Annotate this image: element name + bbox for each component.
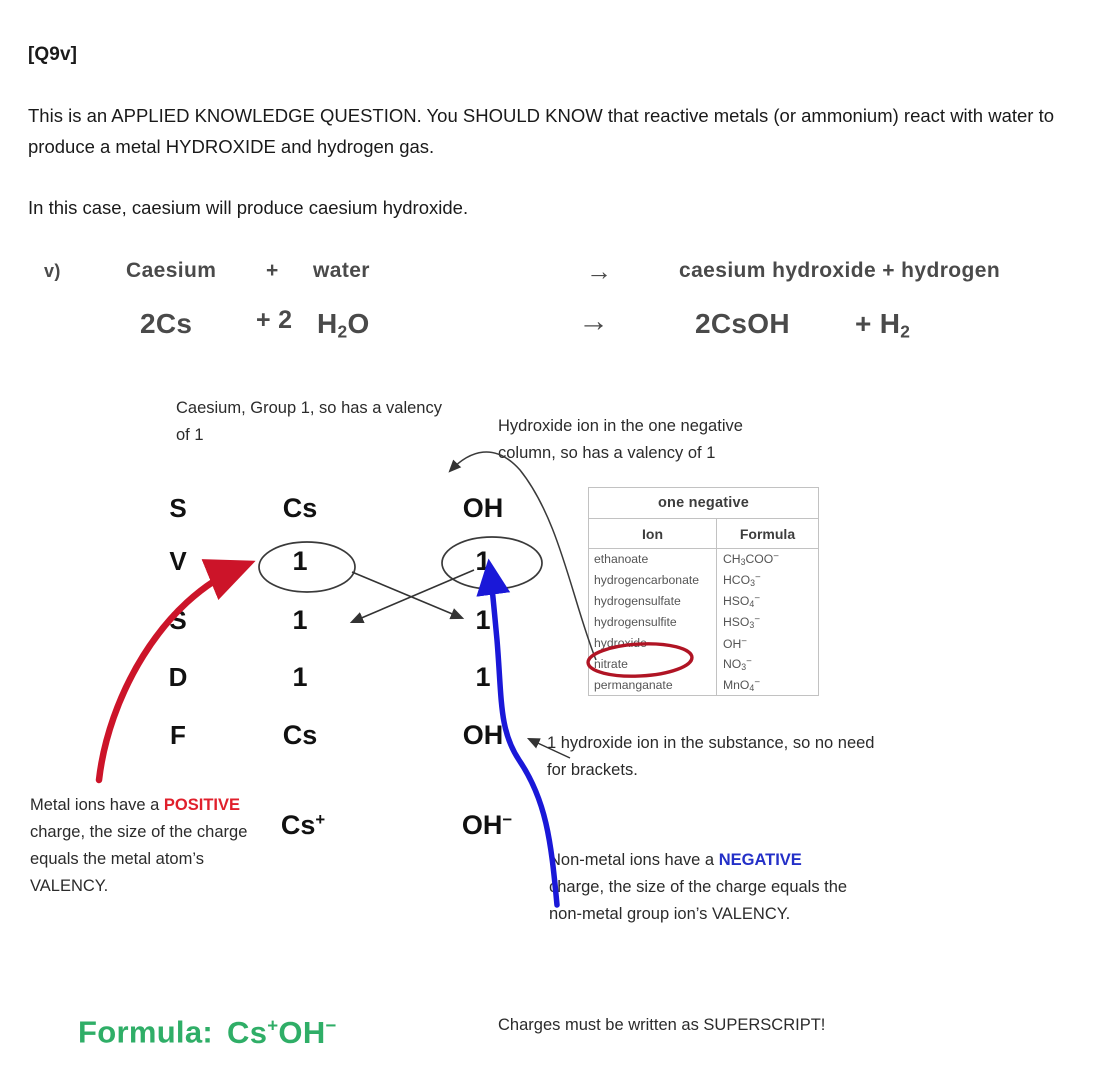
negative-keyword: NEGATIVE bbox=[719, 851, 802, 869]
brackets-note: 1 hydroxide ion in the substance, so no … bbox=[547, 730, 877, 784]
formula-value: Cs+OH− bbox=[227, 1015, 337, 1050]
ion-name-hydrogencarbonate: hydrogencarbonate bbox=[589, 570, 717, 591]
ion-formula-permanganate: MnO4− bbox=[717, 675, 819, 696]
svdf-oh-final: OH bbox=[456, 720, 510, 751]
equation-part-label: v) bbox=[44, 261, 61, 282]
ion-formula-hydrogencarbonate: HCO3− bbox=[717, 570, 819, 591]
table-row: hydrogensulfate HSO4− bbox=[589, 591, 819, 612]
nonmetal-charge-note: Non-metal ions have a NEGATIVE charge, t… bbox=[549, 847, 859, 928]
table-title: one negative bbox=[589, 488, 819, 519]
table-header-formula: Formula bbox=[717, 519, 819, 549]
one-negative-ion-table: one negative Ion Formula ethanoate CH3CO… bbox=[588, 487, 819, 696]
svdf-cs-divided: 1 bbox=[273, 662, 327, 693]
table-header-ion: Ion bbox=[589, 519, 717, 549]
word-equation-arrow: → bbox=[586, 256, 612, 287]
table-row: hydrogensulfite HSO3− bbox=[589, 612, 819, 633]
cation-cs-plus: Cs+ bbox=[258, 810, 348, 841]
svdf-cs-final: Cs bbox=[273, 720, 327, 751]
svdf-row-label-s2: S bbox=[151, 605, 205, 636]
ion-name-hydrogensulfate: hydrogensulfate bbox=[589, 591, 717, 612]
table-row: nitrate NO3− bbox=[589, 654, 819, 675]
table-row: hydroxide OH− bbox=[589, 633, 819, 654]
symbol-product-1: 2CsOH bbox=[695, 308, 790, 340]
svdf-oh-valency: 1 bbox=[456, 546, 510, 577]
ion-name-hydroxide: hydroxide bbox=[589, 633, 717, 654]
word-plus-1: + bbox=[266, 259, 279, 283]
table-header-row: Ion Formula bbox=[589, 519, 819, 549]
table-title-row: one negative bbox=[589, 488, 819, 519]
superscript-reminder: Charges must be written as SUPERSCRIPT! bbox=[498, 1016, 825, 1035]
ion-name-hydrogensulfite: hydrogensulfite bbox=[589, 612, 717, 633]
svdf-cs-valency: 1 bbox=[273, 546, 327, 577]
svdf-cs-symbol: Cs bbox=[273, 493, 327, 524]
symbol-reactant-1: 2Cs bbox=[140, 308, 192, 340]
symbol-equation-arrow: → bbox=[578, 303, 609, 339]
ion-formula-hydrogensulfite: HSO3− bbox=[717, 612, 819, 633]
ion-formula-nitrate: NO3− bbox=[717, 654, 819, 675]
symbol-plus-1: + 2 bbox=[256, 306, 292, 335]
svdf-oh-divided: 1 bbox=[456, 662, 510, 693]
ion-name-nitrate: nitrate bbox=[589, 654, 717, 675]
symbol-reactant-2: H2O bbox=[317, 308, 370, 342]
metal-charge-note: Metal ions have a POSITIVE charge, the s… bbox=[30, 792, 280, 900]
ion-formula-ethanoate: CH3COO− bbox=[717, 549, 819, 570]
ion-formula-hydroxide: OH− bbox=[717, 633, 819, 654]
ion-name-ethanoate: ethanoate bbox=[589, 549, 717, 570]
ion-formula-hydrogensulfate: HSO4− bbox=[717, 591, 819, 612]
table-row: hydrogencarbonate HCO3− bbox=[589, 570, 819, 591]
positive-keyword: POSITIVE bbox=[164, 796, 240, 814]
word-reactant-2: water bbox=[313, 259, 370, 283]
final-formula: Formula:Cs+OH− bbox=[78, 1014, 337, 1051]
hydroxide-valency-note: Hydroxide ion in the one negative column… bbox=[498, 413, 798, 467]
svdf-cs-swap: 1 bbox=[273, 605, 327, 636]
svdf-row-label-f: F bbox=[151, 720, 205, 751]
ion-name-permanganate: permanganate bbox=[589, 675, 717, 696]
svdf-row-label-d: D bbox=[151, 662, 205, 693]
word-products: caesium hydroxide + hydrogen bbox=[679, 259, 1000, 283]
caesium-valency-note: Caesium, Group 1, so has a valency of 1 bbox=[176, 395, 446, 449]
svdf-row-label-v: V bbox=[151, 546, 205, 577]
worksheet-page: [Q9v] This is an APPLIED KNOWLEDGE QUEST… bbox=[0, 0, 1104, 1079]
formula-label: Formula: bbox=[78, 1015, 213, 1050]
anion-oh-minus: OH− bbox=[442, 810, 532, 841]
svdf-oh-swap: 1 bbox=[456, 605, 510, 636]
table-row: ethanoate CH3COO− bbox=[589, 549, 819, 570]
svdf-oh-symbol: OH bbox=[456, 493, 510, 524]
svdf-row-label-s1: S bbox=[151, 493, 205, 524]
symbol-product-2: + H2 bbox=[855, 308, 910, 342]
table-row: permanganate MnO4− bbox=[589, 675, 819, 696]
word-reactant-1: Caesium bbox=[126, 259, 216, 283]
